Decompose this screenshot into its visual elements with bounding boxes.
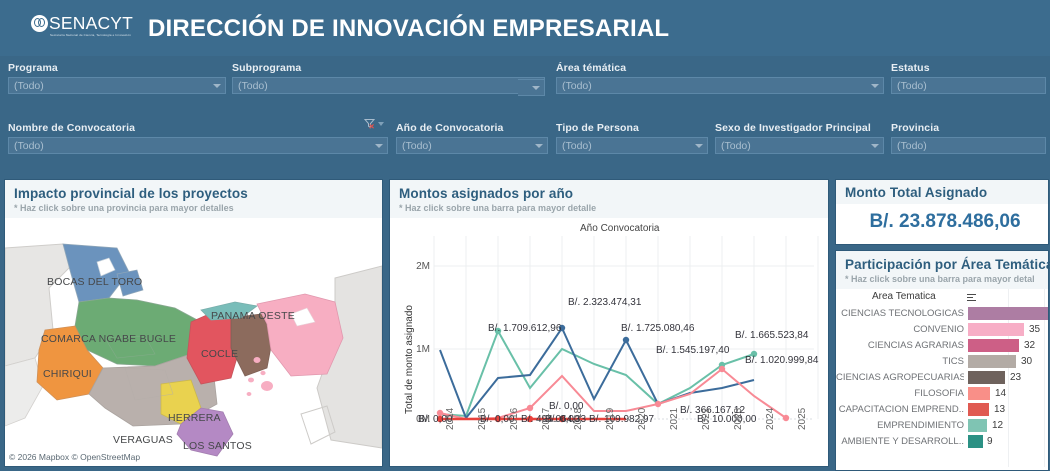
bar-value-label: 14 xyxy=(995,388,1006,399)
filter-subprograma-caret-wrap xyxy=(518,79,545,96)
bar-category-label: FILOSOFIA xyxy=(836,388,964,399)
line-chart-xtick-2023: 2023 xyxy=(733,408,744,430)
bar-row[interactable]: CIENCIAS AGROPECUARIAS 23 xyxy=(836,370,1048,386)
filter-nombre-convocatoria-value: (Todo) xyxy=(9,140,44,152)
filter-sexo-investigador-dropdown[interactable]: (Todo) xyxy=(715,137,884,154)
filter-area-tematica-value: (Todo) xyxy=(557,80,592,92)
bar-rect[interactable] xyxy=(968,435,983,448)
bar-row[interactable]: CIENCIAS AGRARIAS 32 xyxy=(836,338,1048,354)
senacyt-logo-mark-icon xyxy=(31,15,48,32)
bar-row[interactable]: CONVENIO 35 xyxy=(836,322,1048,338)
filter-programa-value: (Todo) xyxy=(9,80,44,92)
bar-row[interactable]: AMBIENTE Y DESARROLL.. 9 xyxy=(836,434,1048,450)
bar-value-label: 13 xyxy=(994,404,1005,415)
bar-row[interactable]: EMPRENDIMIENTO 12 xyxy=(836,418,1048,434)
filter-area-tematica-dropdown[interactable]: (Todo) xyxy=(556,77,884,94)
map-label-los-santos: LOS SANTOS xyxy=(183,440,252,452)
chevron-down-icon[interactable] xyxy=(535,144,543,148)
app-header: SENACYT Secretaría Nacional de Ciencia, … xyxy=(0,0,1050,56)
area-tematica-column-header[interactable]: Area Tematica xyxy=(836,289,1048,306)
line-chart-xtick-2022: 2022 xyxy=(701,408,712,430)
filter-provincia-label: Provincia xyxy=(891,122,1046,134)
map-label-herrera: HERRERA xyxy=(168,412,221,424)
filter-anio-convocatoria-value: (Todo) xyxy=(397,140,432,152)
filter-subprograma-label: Subprograma xyxy=(232,62,545,74)
bar-category-label: CONVENIO xyxy=(836,324,964,335)
filter-sexo-investigador-value: (Todo) xyxy=(716,140,751,152)
panama-choropleth-map[interactable]: BOCAS DEL TORO COMARCA NGABE BUGLE CHIRI… xyxy=(5,218,382,465)
line-series-verde[interactable] xyxy=(440,331,754,416)
page-title: DIRECCIÓN DE INNOVACIÓN EMPRESARIAL xyxy=(148,15,669,43)
chevron-down-icon[interactable] xyxy=(695,144,703,148)
line-chart-xtick-2016: 2016 xyxy=(509,408,520,430)
bar-category-label: AMBIENTE Y DESARROLL.. xyxy=(836,436,964,447)
filter-provincia-value: (Todo) xyxy=(892,140,927,152)
bar-value-label: 12 xyxy=(992,420,1003,431)
filter-anio-convocatoria: Año de Convocatoria (Todo) xyxy=(396,122,548,154)
filter-tipo-persona-label: Tipo de Persona xyxy=(556,122,708,134)
map-label-veraguas: VERAGUAS xyxy=(113,434,173,446)
area-tematica-bar-chart[interactable]: Area Tematica CIENCIAS TECNOLOGICAS CONV… xyxy=(836,289,1048,467)
line-chart-label-1545197: B/. 1.545.197,40 xyxy=(656,345,729,356)
bar-rect[interactable] xyxy=(968,403,989,416)
bar-rect[interactable] xyxy=(968,339,1019,352)
area-tematica-header: Participación por Área Temática * Haz cl… xyxy=(836,251,1048,289)
chevron-down-icon[interactable] xyxy=(375,144,383,148)
filter-provincia-dropdown[interactable]: (Todo) xyxy=(891,137,1046,154)
bar-category-label: EMPRENDIMIENTO xyxy=(836,420,964,431)
chevron-down-icon[interactable] xyxy=(213,84,221,88)
filter-area-tematica: Área témática (Todo) xyxy=(556,62,884,94)
filter-anio-convocatoria-label: Año de Convocatoria xyxy=(396,122,548,134)
bar-value-label: 35 xyxy=(1029,324,1040,335)
bar-rect[interactable] xyxy=(968,323,1024,336)
bar-rect[interactable] xyxy=(968,371,1005,384)
filter-nombre-convocatoria-label: Nombre de Convocatoria xyxy=(8,122,388,134)
line-chart-label-2323474: B/. 2.323.474,31 xyxy=(568,297,641,308)
area-tematica-column-label: Area Tematica xyxy=(872,291,936,302)
bar-row[interactable]: TICS 30 xyxy=(836,354,1048,370)
kpi-header: Monto Total Asignado xyxy=(836,180,1048,204)
bar-row[interactable]: CIENCIAS TECNOLOGICAS xyxy=(836,306,1048,322)
filter-nombre-convocatoria: Nombre de Convocatoria (Todo) xyxy=(8,122,388,154)
line-chart-xtick-2015: 2015 xyxy=(477,408,488,430)
filter-programa-dropdown[interactable]: (Todo) xyxy=(8,77,226,94)
filter-area-tematica-label: Área témática xyxy=(556,62,884,74)
bar-rect[interactable] xyxy=(968,355,1016,368)
filter-sexo-investigador-label: Sexo de Investigador Principal xyxy=(715,122,884,134)
filter-subprograma-value: (Todo) xyxy=(233,80,268,92)
filter-tipo-persona: Tipo de Persona (Todo) xyxy=(556,122,708,154)
kpi-value: B/. 23.878.486,06 xyxy=(836,204,1048,233)
bar-rect[interactable] xyxy=(968,387,990,400)
bar-value-label: 23 xyxy=(1010,372,1021,383)
sort-descending-icon[interactable] xyxy=(967,294,976,302)
filter-estatus: Estatus (Todo) xyxy=(891,62,1046,94)
filter-estatus-dropdown[interactable]: (Todo) xyxy=(891,77,1046,94)
filter-programa-label: Programa xyxy=(8,62,226,74)
bar-category-label: CIENCIAS AGROPECUARIAS xyxy=(836,372,964,383)
filter-programa: Programa (Todo) xyxy=(8,62,226,94)
bar-row[interactable]: FILOSOFIA 14 xyxy=(836,386,1048,402)
chevron-down-icon[interactable] xyxy=(871,144,879,148)
clear-filter-control[interactable] xyxy=(364,118,384,129)
line-chart-xtick-2018: 2018 xyxy=(573,408,584,430)
bar-category-label: CIENCIAS TECNOLOGICAS xyxy=(836,308,964,319)
line-chart-xtick-2020: 2020 xyxy=(637,408,648,430)
senacyt-logo-tagline: Secretaría Nacional de Ciencia, Tecnolog… xyxy=(50,33,131,37)
filter-sexo-investigador: Sexo de Investigador Principal (Todo) xyxy=(715,122,884,154)
line-chart-label-1020999: B/. 1.020.999,84 xyxy=(745,355,818,366)
filter-estatus-label: Estatus xyxy=(891,62,1046,74)
area-tematica-panel: Participación por Área Temática * Haz cl… xyxy=(835,250,1049,471)
line-chart-header: Montos asignados por año * Haz click sob… xyxy=(390,180,828,218)
funnel-clear-icon[interactable] xyxy=(364,118,375,129)
chevron-down-icon[interactable] xyxy=(871,84,879,88)
chevron-down-icon[interactable] xyxy=(532,86,540,90)
area-tematica-hint: * Haz click sobre una barra para mayor d… xyxy=(845,274,1039,284)
bar-value-label: 30 xyxy=(1021,356,1032,367)
filter-estatus-value: (Todo) xyxy=(892,80,927,92)
filter-tipo-persona-value: (Todo) xyxy=(557,140,592,152)
filter-provincia: Provincia (Todo) xyxy=(891,122,1046,154)
line-chart-title: Montos asignados por año xyxy=(399,186,819,201)
area-tematica-title: Participación por Área Temática xyxy=(845,257,1039,272)
line-chart-xtick-2021: 2021 xyxy=(669,408,680,430)
map-panel: Impacto provincial de los proyectos * Ha… xyxy=(4,179,383,467)
filter-nombre-convocatoria-dropdown[interactable]: (Todo) xyxy=(8,137,388,154)
chevron-down-icon[interactable] xyxy=(378,122,384,126)
line-chart-xtick-2014: 2014 xyxy=(445,408,456,430)
line-chart-panel: Montos asignados por año * Haz click sob… xyxy=(389,179,829,467)
bar-category-label: CIENCIAS AGRARIAS xyxy=(836,340,964,351)
line-chart-body[interactable]: Año Convocatoria Total de monto asignado… xyxy=(390,218,828,465)
dashboard-root: SENACYT Secretaría Nacional de Ciencia, … xyxy=(0,0,1050,471)
senacyt-logo: SENACYT Secretaría Nacional de Ciencia, … xyxy=(31,13,127,43)
map-label-cocle: COCLE xyxy=(201,348,238,360)
line-chart-label-1725080: B/. 1.725.080,46 xyxy=(621,323,694,334)
line-chart-label-1665524: B/. 1.665.523,84 xyxy=(735,330,808,341)
senacyt-logo-wordmark: SENACYT xyxy=(49,13,133,34)
line-chart-xtick-2017: 2017 xyxy=(541,408,552,430)
line-chart-label-1709613: B/. 1.709.612,96 xyxy=(488,323,561,334)
filter-bar: Programa (Todo) Subprograma (Todo) Área … xyxy=(0,56,1050,170)
map-attribution: © 2026 Mapbox © OpenStreetMap xyxy=(9,452,140,462)
filter-subprograma-caret-box[interactable] xyxy=(518,79,545,96)
line-chart-xtick-2024: 2024 xyxy=(765,408,776,430)
filter-tipo-persona-dropdown[interactable]: (Todo) xyxy=(556,137,708,154)
map-label-panama-oeste: PANAMA OESTE xyxy=(211,310,295,322)
map-label-bocas-del-toro: BOCAS DEL TORO xyxy=(47,276,142,288)
bar-row[interactable]: CAPACITACION EMPREND.. 13 xyxy=(836,402,1048,418)
bar-rect[interactable] xyxy=(968,307,1048,320)
map-panel-header: Impacto provincial de los proyectos * Ha… xyxy=(5,180,382,218)
bar-rect[interactable] xyxy=(968,419,987,432)
bar-category-label: CAPACITACION EMPREND.. xyxy=(836,404,964,415)
kpi-title: Monto Total Asignado xyxy=(845,185,1039,200)
line-chart-xtick-2025: 2025 xyxy=(797,408,808,430)
line-chart-xtick-2019: 2019 xyxy=(605,408,616,430)
line-chart-hint: * Haz click sobre una barra para mayor d… xyxy=(399,203,819,213)
bar-value-label: 32 xyxy=(1024,340,1035,351)
map-label-chiriqui: CHIRIQUI xyxy=(43,368,92,380)
map-label-comarca-ngabe-bugle: COMARCA NGABE BUGLE xyxy=(41,333,176,345)
map-panel-hint: * Haz click sobre una provincia para may… xyxy=(14,203,373,213)
bar-value-label: 9 xyxy=(987,436,993,447)
kpi-panel: Monto Total Asignado B/. 23.878.486,06 xyxy=(835,179,1049,245)
filter-subprograma-dropdown[interactable]: (Todo) xyxy=(232,77,545,94)
map-panel-title: Impacto provincial de los proyectos xyxy=(14,186,373,201)
bar-category-label: TICS xyxy=(836,356,964,367)
filter-subprograma: Subprograma (Todo) xyxy=(232,62,545,94)
filter-anio-convocatoria-dropdown[interactable]: (Todo) xyxy=(396,137,548,154)
